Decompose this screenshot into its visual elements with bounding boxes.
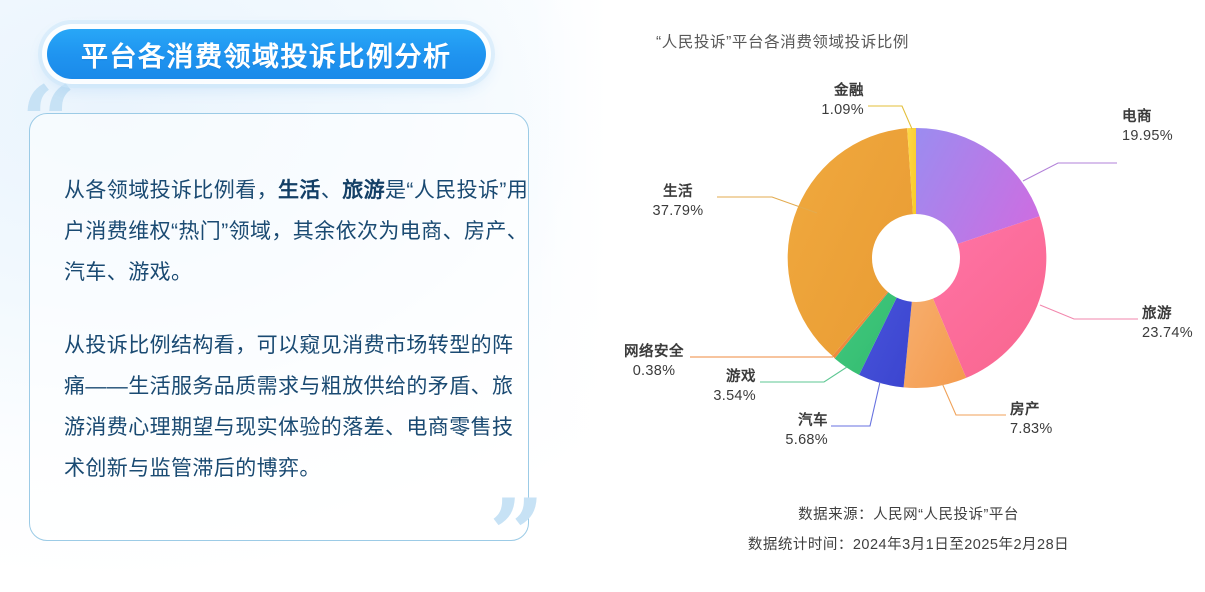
leader-line-games — [760, 367, 847, 382]
chart-title: “人民投诉”平台各消费领域投诉比例 — [656, 30, 909, 52]
quote-close-icon: ” — [489, 487, 544, 583]
donut-hole — [872, 214, 960, 302]
leader-line-travel — [1040, 305, 1138, 319]
pie-label-ecommerce: 电商 19.95% — [1122, 108, 1202, 146]
insight-p1-part-a: 从各领域投诉比例看， — [64, 179, 278, 202]
chart-panel: “人民投诉”平台各消费领域投诉比例 — [612, 0, 1205, 592]
pie-label-finance-name: 金融 — [636, 82, 864, 101]
pie-label-finance-value: 1.09% — [636, 101, 864, 120]
insight-p1-highlight-2: 旅游 — [342, 179, 385, 202]
pie-label-realestate: 房产 7.83% — [1010, 401, 1090, 439]
pie-label-realestate-name: 房产 — [1010, 401, 1090, 420]
poster-root: 平台各消费领域投诉比例分析 “ ” 从各领域投诉比例看，生活、旅游是“人民投诉”… — [0, 0, 1205, 592]
quote-open-icon: “ — [21, 74, 76, 170]
pie-label-ecommerce-name: 电商 — [1122, 108, 1202, 127]
pie-label-life-name: 生活 — [642, 183, 714, 202]
pie-label-travel: 旅游 23.74% — [1142, 305, 1205, 343]
leader-line-realestate — [942, 383, 1006, 415]
pie-slices — [788, 128, 1047, 388]
pie-label-games-value: 3.54% — [660, 387, 756, 406]
leader-line-ecommerce — [1023, 163, 1117, 181]
pie-label-cybersecurity-value: 0.38% — [620, 362, 688, 381]
pie-label-travel-name: 旅游 — [1142, 305, 1205, 324]
pie-label-life: 生活 37.79% — [642, 183, 714, 221]
insight-p1-highlight-1: 生活 — [278, 179, 321, 202]
pie-label-cybersecurity: 网络安全 0.38% — [620, 343, 688, 381]
pie-chart: 金融 1.09% 电商 19.95% 旅游 23.74% 房产 7.83% 汽车… — [612, 58, 1205, 478]
pie-label-automobile-value: 5.68% — [732, 431, 828, 450]
insight-paragraph-2: 从投诉比例结构看，可以窥见消费市场转型的阵痛——生活服务品质需求与粗放供给的矛盾… — [64, 325, 534, 489]
insight-text-block: 从各领域投诉比例看，生活、旅游是“人民投诉”用户消费维权“热门”领域，其余依次为… — [64, 170, 534, 489]
page-title: 平台各消费领域投诉比例分析 — [81, 35, 452, 74]
pie-chart-svg — [612, 58, 1205, 478]
insight-paragraph-1: 从各领域投诉比例看，生活、旅游是“人民投诉”用户消费维权“热门”领域，其余依次为… — [64, 170, 534, 293]
insight-p1-separator: 、 — [321, 179, 342, 202]
footer-period: 数据统计时间：2024年3月1日至2025年2月28日 — [612, 530, 1205, 560]
page-title-pill: 平台各消费领域投诉比例分析 — [47, 29, 486, 79]
pie-label-cybersecurity-name: 网络安全 — [620, 343, 688, 362]
footer-source: 数据来源：人民网“人民投诉”平台 — [612, 500, 1205, 530]
pie-label-realestate-value: 7.83% — [1010, 420, 1090, 439]
chart-footer: 数据来源：人民网“人民投诉”平台 数据统计时间：2024年3月1日至2025年2… — [612, 500, 1205, 560]
leader-line-automobile — [831, 382, 880, 426]
pie-label-travel-value: 23.74% — [1142, 324, 1205, 343]
pie-label-finance: 金融 1.09% — [636, 82, 864, 120]
leader-line-finance — [868, 106, 912, 129]
pie-label-life-value: 37.79% — [642, 202, 714, 221]
pie-label-ecommerce-value: 19.95% — [1122, 127, 1202, 146]
pie-label-automobile: 汽车 5.68% — [732, 412, 828, 450]
pie-label-automobile-name: 汽车 — [732, 412, 828, 431]
